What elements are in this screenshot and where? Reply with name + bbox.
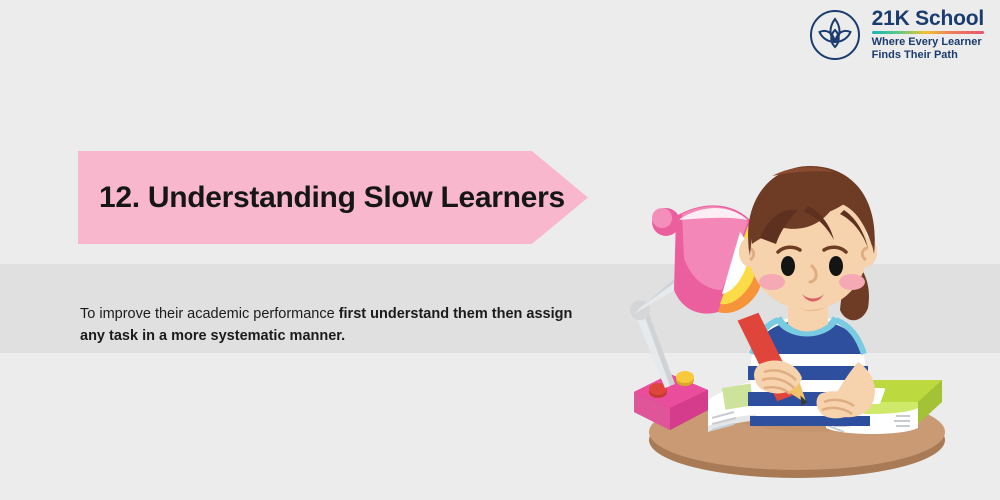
brand-name: 21K School xyxy=(872,8,984,30)
body-paragraph: To improve their academic performance fi… xyxy=(80,303,580,348)
brand-logo: 21K School Where Every Learner Finds The… xyxy=(808,8,984,62)
title-banner: 12. Understanding Slow Learners xyxy=(78,151,588,244)
body-text-normal: To improve their academic performance xyxy=(80,306,339,322)
brand-tagline-line2: Finds Their Path xyxy=(872,49,984,62)
brand-gradient-rule xyxy=(872,31,984,34)
brand-tagline-line1: Where Every Learner xyxy=(872,36,984,49)
girl-studying-illustration xyxy=(612,140,972,480)
page-title: 12. Understanding Slow Learners xyxy=(78,181,565,215)
slide-canvas: 21K School Where Every Learner Finds The… xyxy=(0,0,1000,500)
brand-logo-text: 21K School Where Every Learner Finds The… xyxy=(872,8,984,62)
lotus-circle-icon xyxy=(808,8,862,62)
